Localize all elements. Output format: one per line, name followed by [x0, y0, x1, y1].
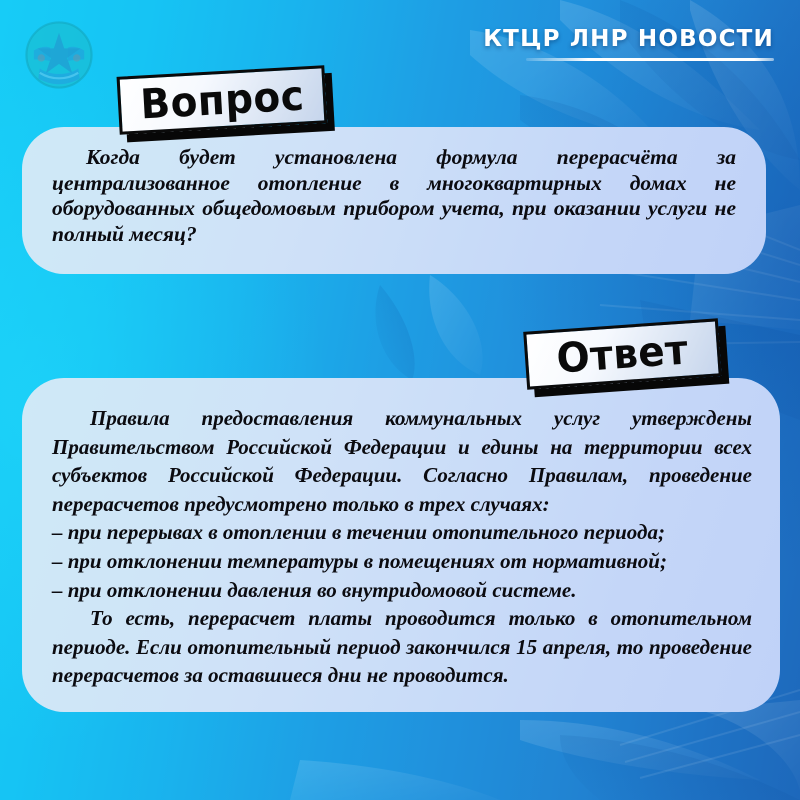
- brand-underline: [526, 58, 774, 61]
- answer-paragraph-1: Правила предоставления коммунальных услу…: [52, 404, 752, 518]
- answer-bullet-3: – при отклонении давления во внутридомов…: [52, 576, 752, 605]
- answer-bullet-1: – при перерывах в отоплении в течении от…: [52, 518, 752, 547]
- answer-paragraph-2: То есть, перерасчет платы проводится тол…: [52, 604, 752, 690]
- question-badge: Вопрос: [117, 65, 328, 135]
- answer-badge-label: Ответ: [555, 329, 689, 379]
- lnr-coat-of-arms-emblem-icon: [22, 18, 96, 92]
- brand-header: КТЦР ЛНР НОВОСТИ: [483, 28, 774, 61]
- news-poster: КТЦР ЛНР НОВОСТИ Вопрос Когда будет уста…: [0, 0, 800, 800]
- answer-card: Правила предоставления коммунальных услу…: [22, 378, 780, 712]
- question-text: Когда будет установлена формула перерасч…: [52, 145, 736, 247]
- question-card: Когда будет установлена формула перерасч…: [22, 127, 766, 274]
- answer-bullet-2: – при отклонении температуры в помещения…: [52, 547, 752, 576]
- brand-title: КТЦР ЛНР НОВОСТИ: [483, 28, 774, 51]
- question-badge-label: Вопрос: [139, 75, 305, 125]
